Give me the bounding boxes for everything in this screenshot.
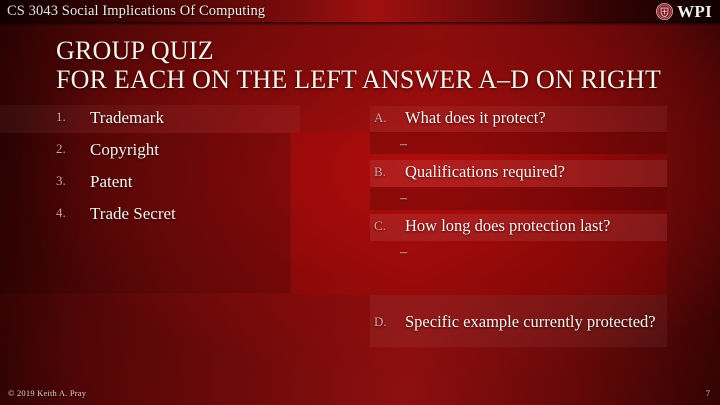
list-subitem: – (374, 239, 674, 269)
list-item-label: Trademark (90, 107, 306, 128)
list-item-marker: 4. (56, 203, 90, 223)
left-terms-list: 1. Trademark 2. Copyright 3. Patent 4. T… (56, 107, 306, 235)
list-item-label: Patent (90, 171, 306, 192)
list-item: D. Specific example currently protected? (374, 311, 674, 332)
list-item-marker: C. (374, 215, 405, 236)
wpi-logo: WPI (656, 1, 712, 22)
list-item-label: How long does protection last? (405, 215, 674, 236)
list-item: 3. Patent (56, 171, 306, 192)
list-item-marker: B. (374, 161, 405, 182)
list-item: 1. Trademark (56, 107, 306, 128)
course-title: CS 3043 Social Implications Of Computing (7, 3, 265, 20)
slide: CS 3043 Social Implications Of Computing… (0, 0, 720, 405)
list-item-label: Qualifications required? (405, 161, 674, 182)
list-item-marker: A. (374, 107, 405, 128)
slide-header-bar: CS 3043 Social Implications Of Computing… (0, 0, 720, 23)
page-title: GROUP QUIZ FOR EACH ON THE LEFT ANSWER A… (56, 36, 696, 94)
right-questions-list: A. What does it protect? – B. Qualificat… (374, 107, 674, 332)
list-subitem-dash: – (400, 245, 407, 260)
list-item-label: Specific example currently protected? (405, 311, 674, 332)
page-number: 7 (706, 388, 710, 398)
list-item-label: What does it protect? (405, 107, 674, 128)
list-item: 2. Copyright (56, 139, 306, 160)
list-item-marker: 1. (56, 107, 90, 127)
footer-copyright: © 2019 Keith A. Pray (8, 388, 86, 398)
wpi-logo-text: WPI (677, 3, 712, 20)
page-title-line-1: GROUP QUIZ (56, 36, 696, 65)
list-item: C. How long does protection last? (374, 215, 674, 239)
list-item-marker: D. (374, 311, 405, 332)
list-item-marker: 3. (56, 171, 90, 191)
list-item: 4. Trade Secret (56, 203, 306, 224)
list-item: B. Qualifications required? (374, 161, 674, 185)
list-item-label: Trade Secret (90, 203, 306, 224)
wpi-seal-icon (656, 3, 673, 20)
page-title-line-2: FOR EACH ON THE LEFT ANSWER A–D ON RIGHT (56, 65, 696, 94)
list-subitem: – (374, 131, 674, 161)
list-item-label: Copyright (90, 139, 306, 160)
list-item-marker: 2. (56, 139, 90, 159)
list-subitem-dash: – (400, 137, 407, 152)
list-subitem-dash: – (400, 191, 407, 206)
list-subitem: – (374, 185, 674, 215)
list-item: A. What does it protect? (374, 107, 674, 131)
